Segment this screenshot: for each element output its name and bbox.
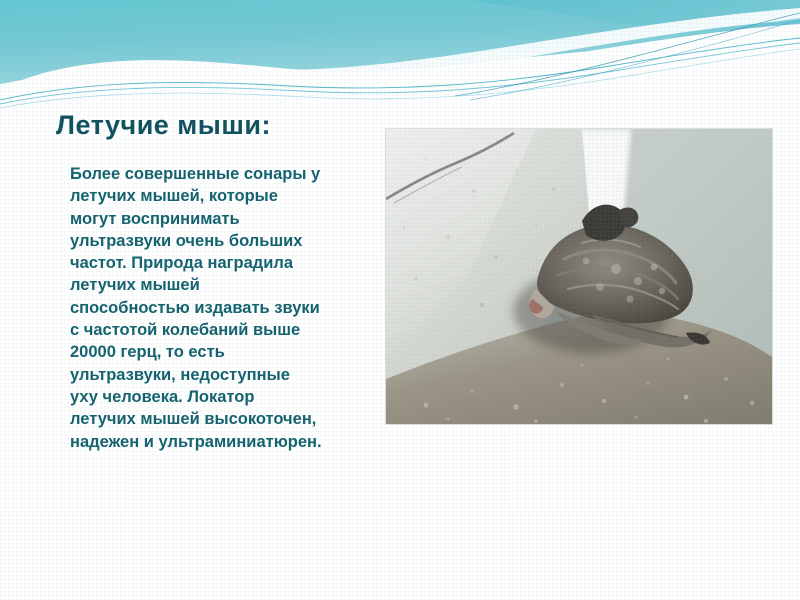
header-wave-decoration [0,0,800,112]
bat-photo [386,129,772,424]
slide-body-text: Более совершенные сонары у летучих мышей… [70,163,322,453]
slide-title: Летучие мыши: [56,110,271,141]
presentation-slide: Летучие мыши: Более совершенные сонары у… [0,0,800,600]
